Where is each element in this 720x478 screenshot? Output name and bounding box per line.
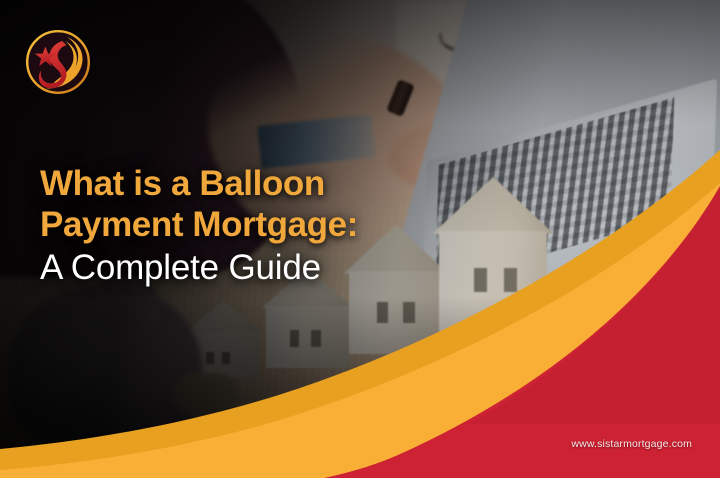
photo-coin-stack [173, 373, 238, 416]
sistar-mortgage-logo[interactable] [23, 27, 93, 97]
website-url[interactable]: www.sistarmortgage.com [571, 438, 692, 450]
headline-block: What is a Balloon Payment Mortgage: A Co… [40, 163, 520, 291]
article-hero-banner: What is a Balloon Payment Mortgage: A Co… [0, 0, 720, 478]
headline-line-1: What is a Balloon [40, 163, 520, 204]
headline-subtitle: A Complete Guide [40, 245, 520, 291]
headline-line-2: Payment Mortgage: [40, 204, 520, 245]
